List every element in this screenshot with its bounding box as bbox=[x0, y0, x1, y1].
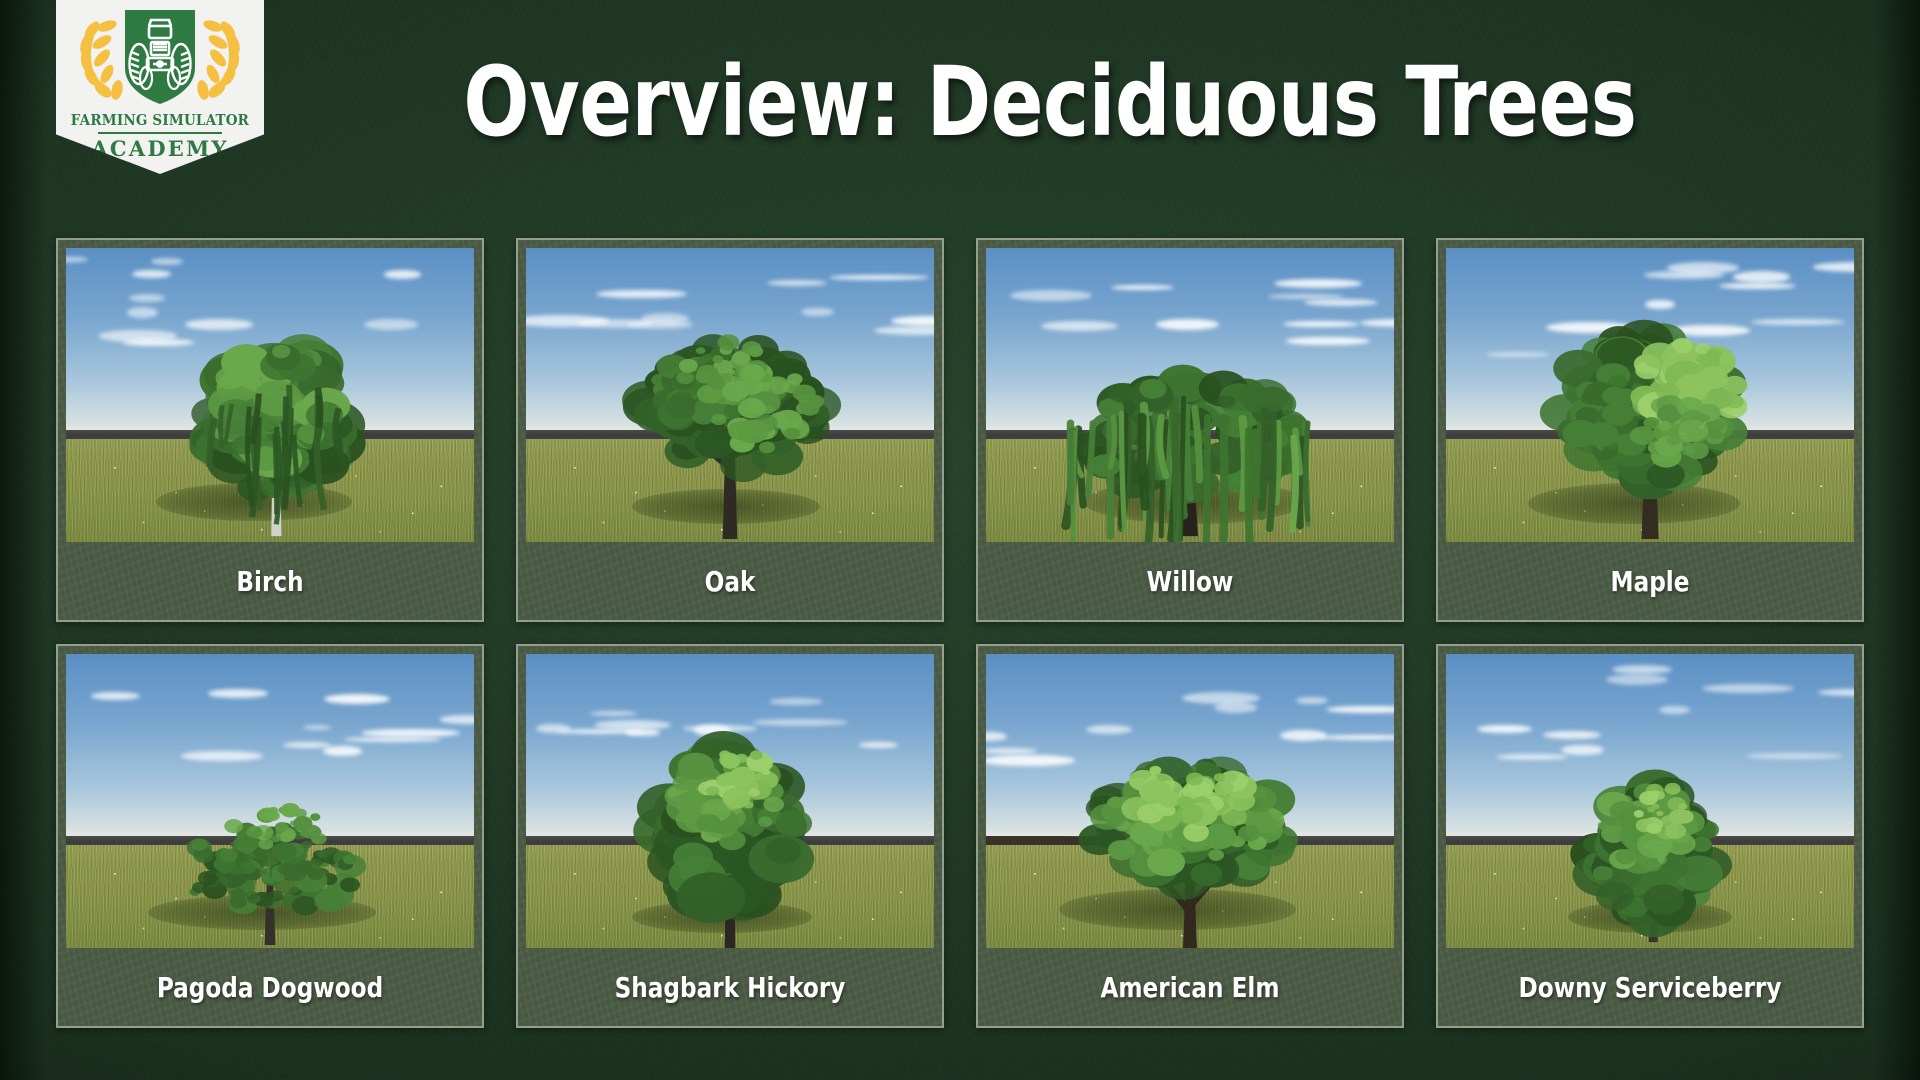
tree-card[interactable]: Shagbark Hickory bbox=[516, 644, 944, 1028]
tree-card-label: Downy Serviceberry bbox=[1462, 948, 1837, 1026]
tree-card-label: Birch bbox=[82, 542, 457, 620]
oak-tree-photo[interactable] bbox=[526, 248, 934, 542]
tree-card[interactable]: Birch bbox=[56, 238, 484, 622]
tree-card-label: Oak bbox=[542, 542, 917, 620]
american-elm-tree-photo[interactable] bbox=[986, 654, 1394, 948]
tree-card-label: Pagoda Dogwood bbox=[82, 948, 457, 1026]
shagbark-hickory-tree-photo[interactable] bbox=[526, 654, 934, 948]
tree-card[interactable]: Pagoda Dogwood bbox=[56, 644, 484, 1028]
tree-card-grid: BirchOakWillowMaplePagoda DogwoodShagbar… bbox=[56, 238, 1864, 1028]
tree-card-label: American Elm bbox=[1002, 948, 1377, 1026]
page-title: Overview: Deciduous Trees bbox=[348, 46, 1752, 158]
willow-tree-photo[interactable] bbox=[986, 248, 1394, 542]
tree-card-label: Maple bbox=[1462, 542, 1837, 620]
birch-tree-photo[interactable] bbox=[66, 248, 474, 542]
tree-card-label: Shagbark Hickory bbox=[542, 948, 917, 1026]
tree-card[interactable]: Maple bbox=[1436, 238, 1864, 622]
tractor-shield-laurel-icon bbox=[65, 0, 255, 116]
downy-serviceberry-tree-photo[interactable] bbox=[1446, 654, 1854, 948]
tree-card-label: Willow bbox=[1002, 542, 1377, 620]
brand-line-1: FARMING SIMULATOR bbox=[71, 112, 249, 129]
tree-card[interactable]: Willow bbox=[976, 238, 1404, 622]
tree-card[interactable]: Downy Serviceberry bbox=[1436, 644, 1864, 1028]
pagoda-dogwood-tree-photo[interactable] bbox=[66, 654, 474, 948]
tree-card[interactable]: American Elm bbox=[976, 644, 1404, 1028]
brand-divider bbox=[98, 132, 222, 134]
tree-card[interactable]: Oak bbox=[516, 238, 944, 622]
maple-tree-photo[interactable] bbox=[1446, 248, 1854, 542]
left-edge-vignette bbox=[0, 0, 46, 1080]
right-edge-vignette bbox=[1874, 0, 1920, 1080]
